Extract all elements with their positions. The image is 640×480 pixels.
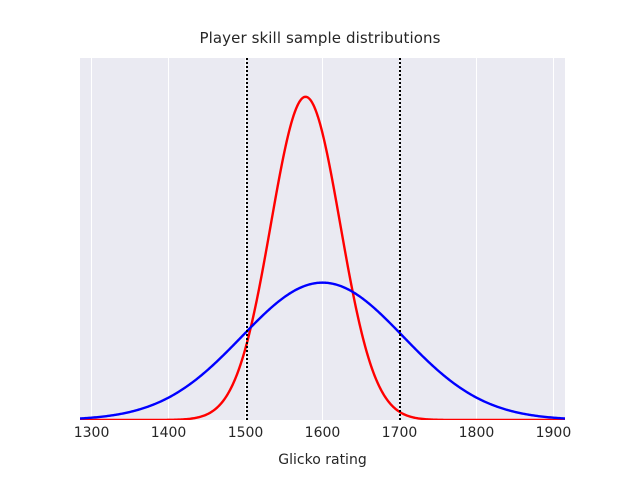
chart-figure: Player skill sample distributions 130014… xyxy=(0,0,640,480)
distribution-curves xyxy=(80,58,565,420)
x-tick-label-1400: 1400 xyxy=(151,425,187,441)
rating-marker-1700 xyxy=(399,58,401,420)
x-tick-label-1600: 1600 xyxy=(305,425,341,441)
distribution-curve-blue xyxy=(80,283,565,419)
x-axis-label: Glicko rating xyxy=(80,452,565,468)
plot-area xyxy=(80,58,565,420)
chart-title: Player skill sample distributions xyxy=(0,29,640,47)
x-tick-label-1900: 1900 xyxy=(536,425,572,441)
distribution-curve-red xyxy=(80,97,565,420)
x-tick-label-1500: 1500 xyxy=(228,425,264,441)
x-axis-tick-labels: 1300140015001600170018001900 xyxy=(80,425,565,447)
rating-marker-1500 xyxy=(246,58,248,420)
x-tick-label-1800: 1800 xyxy=(459,425,495,441)
x-tick-label-1300: 1300 xyxy=(74,425,110,441)
x-tick-label-1700: 1700 xyxy=(382,425,418,441)
